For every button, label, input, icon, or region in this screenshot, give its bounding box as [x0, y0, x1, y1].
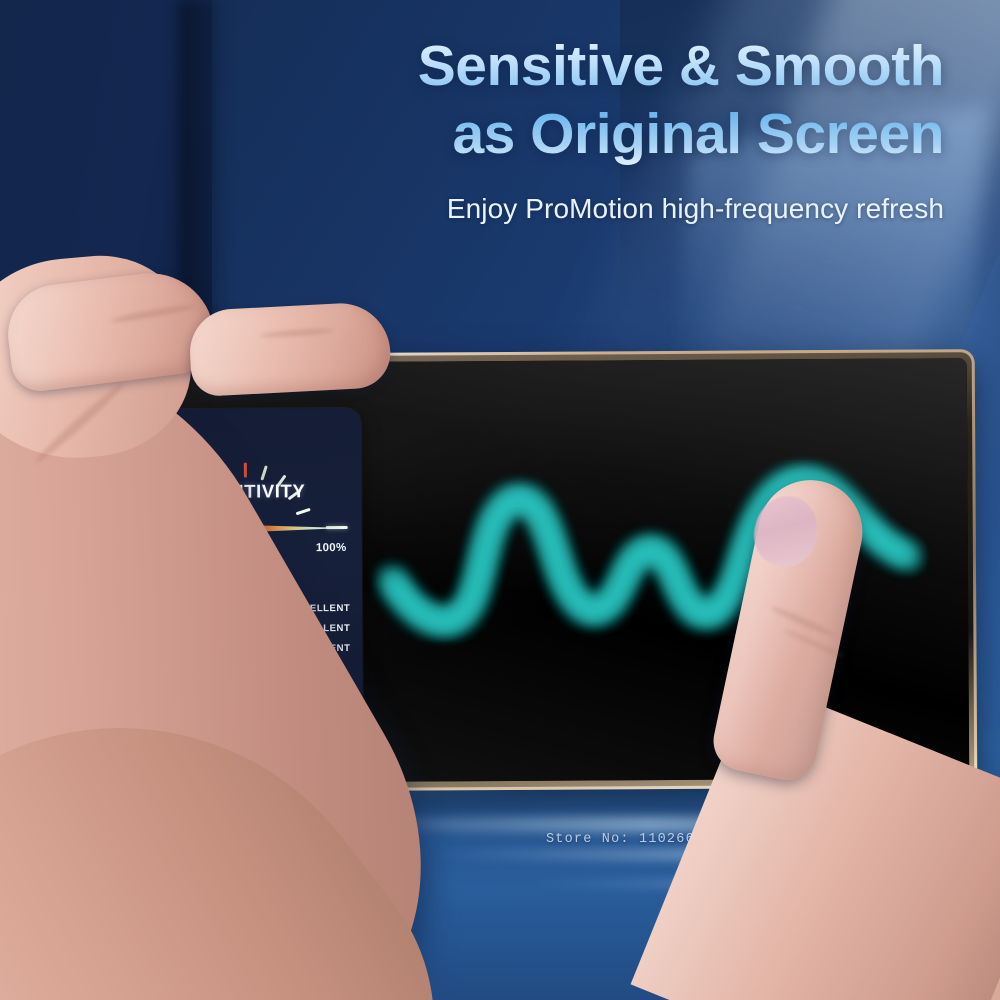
headline-line-2: as Original Screen — [324, 100, 944, 168]
index-test-row-rating: EXCELLENT — [289, 622, 351, 633]
headline-line-1: Sensitive & Smooth — [418, 34, 944, 98]
subheadline: Enjoy ProMotion high-frequency refresh — [304, 193, 944, 225]
gauge-hub — [239, 521, 254, 536]
store-number: Store No: 1102664430 — [546, 832, 732, 847]
overview-heading: OVERVIEW — [157, 691, 221, 703]
index-test-heading: INDEX TEST — [146, 561, 228, 575]
index-test-row-rating: EXCELLENT — [289, 602, 351, 613]
overview-message: YOU DESERVED IT! — [131, 710, 363, 735]
sensitivity-panel[interactable]: SENSITIVITY 0% 100% INDEX TEST SMOOTH EX… — [129, 408, 363, 764]
headline: Sensitive & Smooth as Original Screen — [324, 32, 944, 168]
neon-wave-trace — [373, 448, 934, 641]
gauge-tick — [260, 465, 267, 480]
water-streak — [420, 849, 1000, 860]
index-test-row-name: REACTION — [146, 643, 206, 654]
gauge-title: SENSITIVITY — [129, 480, 361, 503]
poster-canvas: Sensitive & Smooth as Original Screen En… — [0, 0, 1000, 1000]
phone-device: SENSITIVITY 0% 100% INDEX TEST SMOOTH EX… — [35, 349, 978, 793]
phone-screen[interactable]: SENSITIVITY 0% 100% INDEX TEST SMOOTH EX… — [43, 358, 970, 784]
gauge-needle-group: 0% 100% — [130, 512, 362, 543]
index-test-rows: SMOOTH EXCELLENT SPEED EXCELLENT REACTIO… — [146, 598, 350, 659]
gauge-tick — [223, 466, 231, 481]
water-streak — [640, 909, 1000, 916]
index-test-row: SMOOTH EXCELLENT — [146, 598, 350, 619]
index-test-row: SPEED EXCELLENT — [146, 618, 350, 639]
gauge-max-label: 100% — [316, 542, 347, 554]
index-test-row-bar — [206, 627, 279, 630]
index-test-row-name: SMOOTH — [146, 603, 206, 614]
gauge-needle — [249, 525, 333, 533]
gauge-min-tick — [144, 527, 166, 530]
index-test-row-name: SPEED — [146, 623, 206, 634]
index-test-row: REACTION EXCELLENT — [146, 638, 350, 659]
index-test-row-bar — [207, 647, 280, 650]
index-test-row-rating: EXCELLENT — [289, 642, 351, 653]
gauge-min-label: 0% — [147, 543, 164, 555]
water-streak — [520, 879, 1000, 888]
index-test-row-bar — [206, 607, 279, 610]
gauge-tick — [244, 463, 247, 478]
background-bottom-shadow — [0, 830, 430, 1000]
